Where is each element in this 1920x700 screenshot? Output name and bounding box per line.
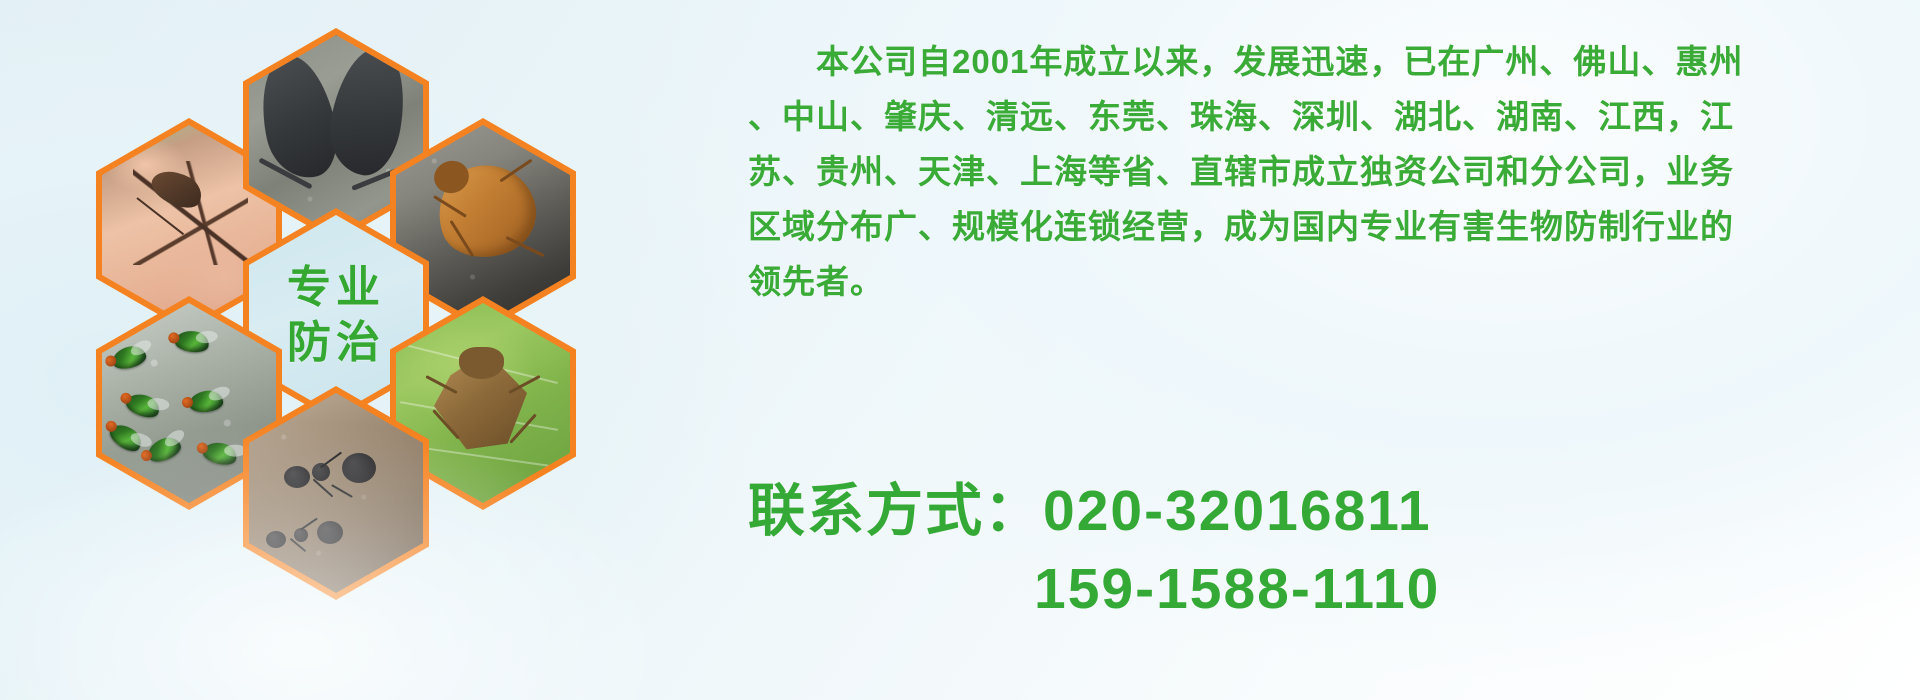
- body-line: 、中山、肇庆、清远、东莞、珠海、深圳、湖北、湖南、江西，江: [748, 89, 1888, 144]
- promo-banner: 专业 防治: [0, 0, 1920, 700]
- contact-block: 联系方式：020-32016811 159-1588-1110: [748, 472, 1888, 628]
- body-line: 本公司自2001年成立以来，发展迅速，已在广州、佛山、惠州: [748, 34, 1888, 89]
- slogan-text: 专业 防治: [287, 260, 385, 371]
- ant-photo: [249, 393, 423, 593]
- slogan-line-1: 专业: [287, 260, 385, 315]
- body-line: 领先者。: [748, 254, 1888, 309]
- slogan-line-2: 防治: [287, 315, 385, 370]
- contact-phone-secondary[interactable]: 159-1588-1110: [748, 550, 1888, 628]
- honeycomb-cluster: 专业 防治: [96, 18, 696, 578]
- company-description: 本公司自2001年成立以来，发展迅速，已在广州、佛山、惠州 、中山、肇庆、清远、…: [748, 34, 1888, 309]
- body-line: 苏、贵州、天津、上海等省、直辖市成立独资公司和分公司，业务: [748, 144, 1888, 199]
- body-copy: 本公司自2001年成立以来，发展迅速，已在广州、佛山、惠州 、中山、肇庆、清远、…: [748, 34, 1888, 309]
- contact-phone-primary[interactable]: 联系方式：020-32016811: [748, 472, 1888, 550]
- body-line: 区域分布广、规模化连锁经营，成为国内专业有害生物防制行业的: [748, 199, 1888, 254]
